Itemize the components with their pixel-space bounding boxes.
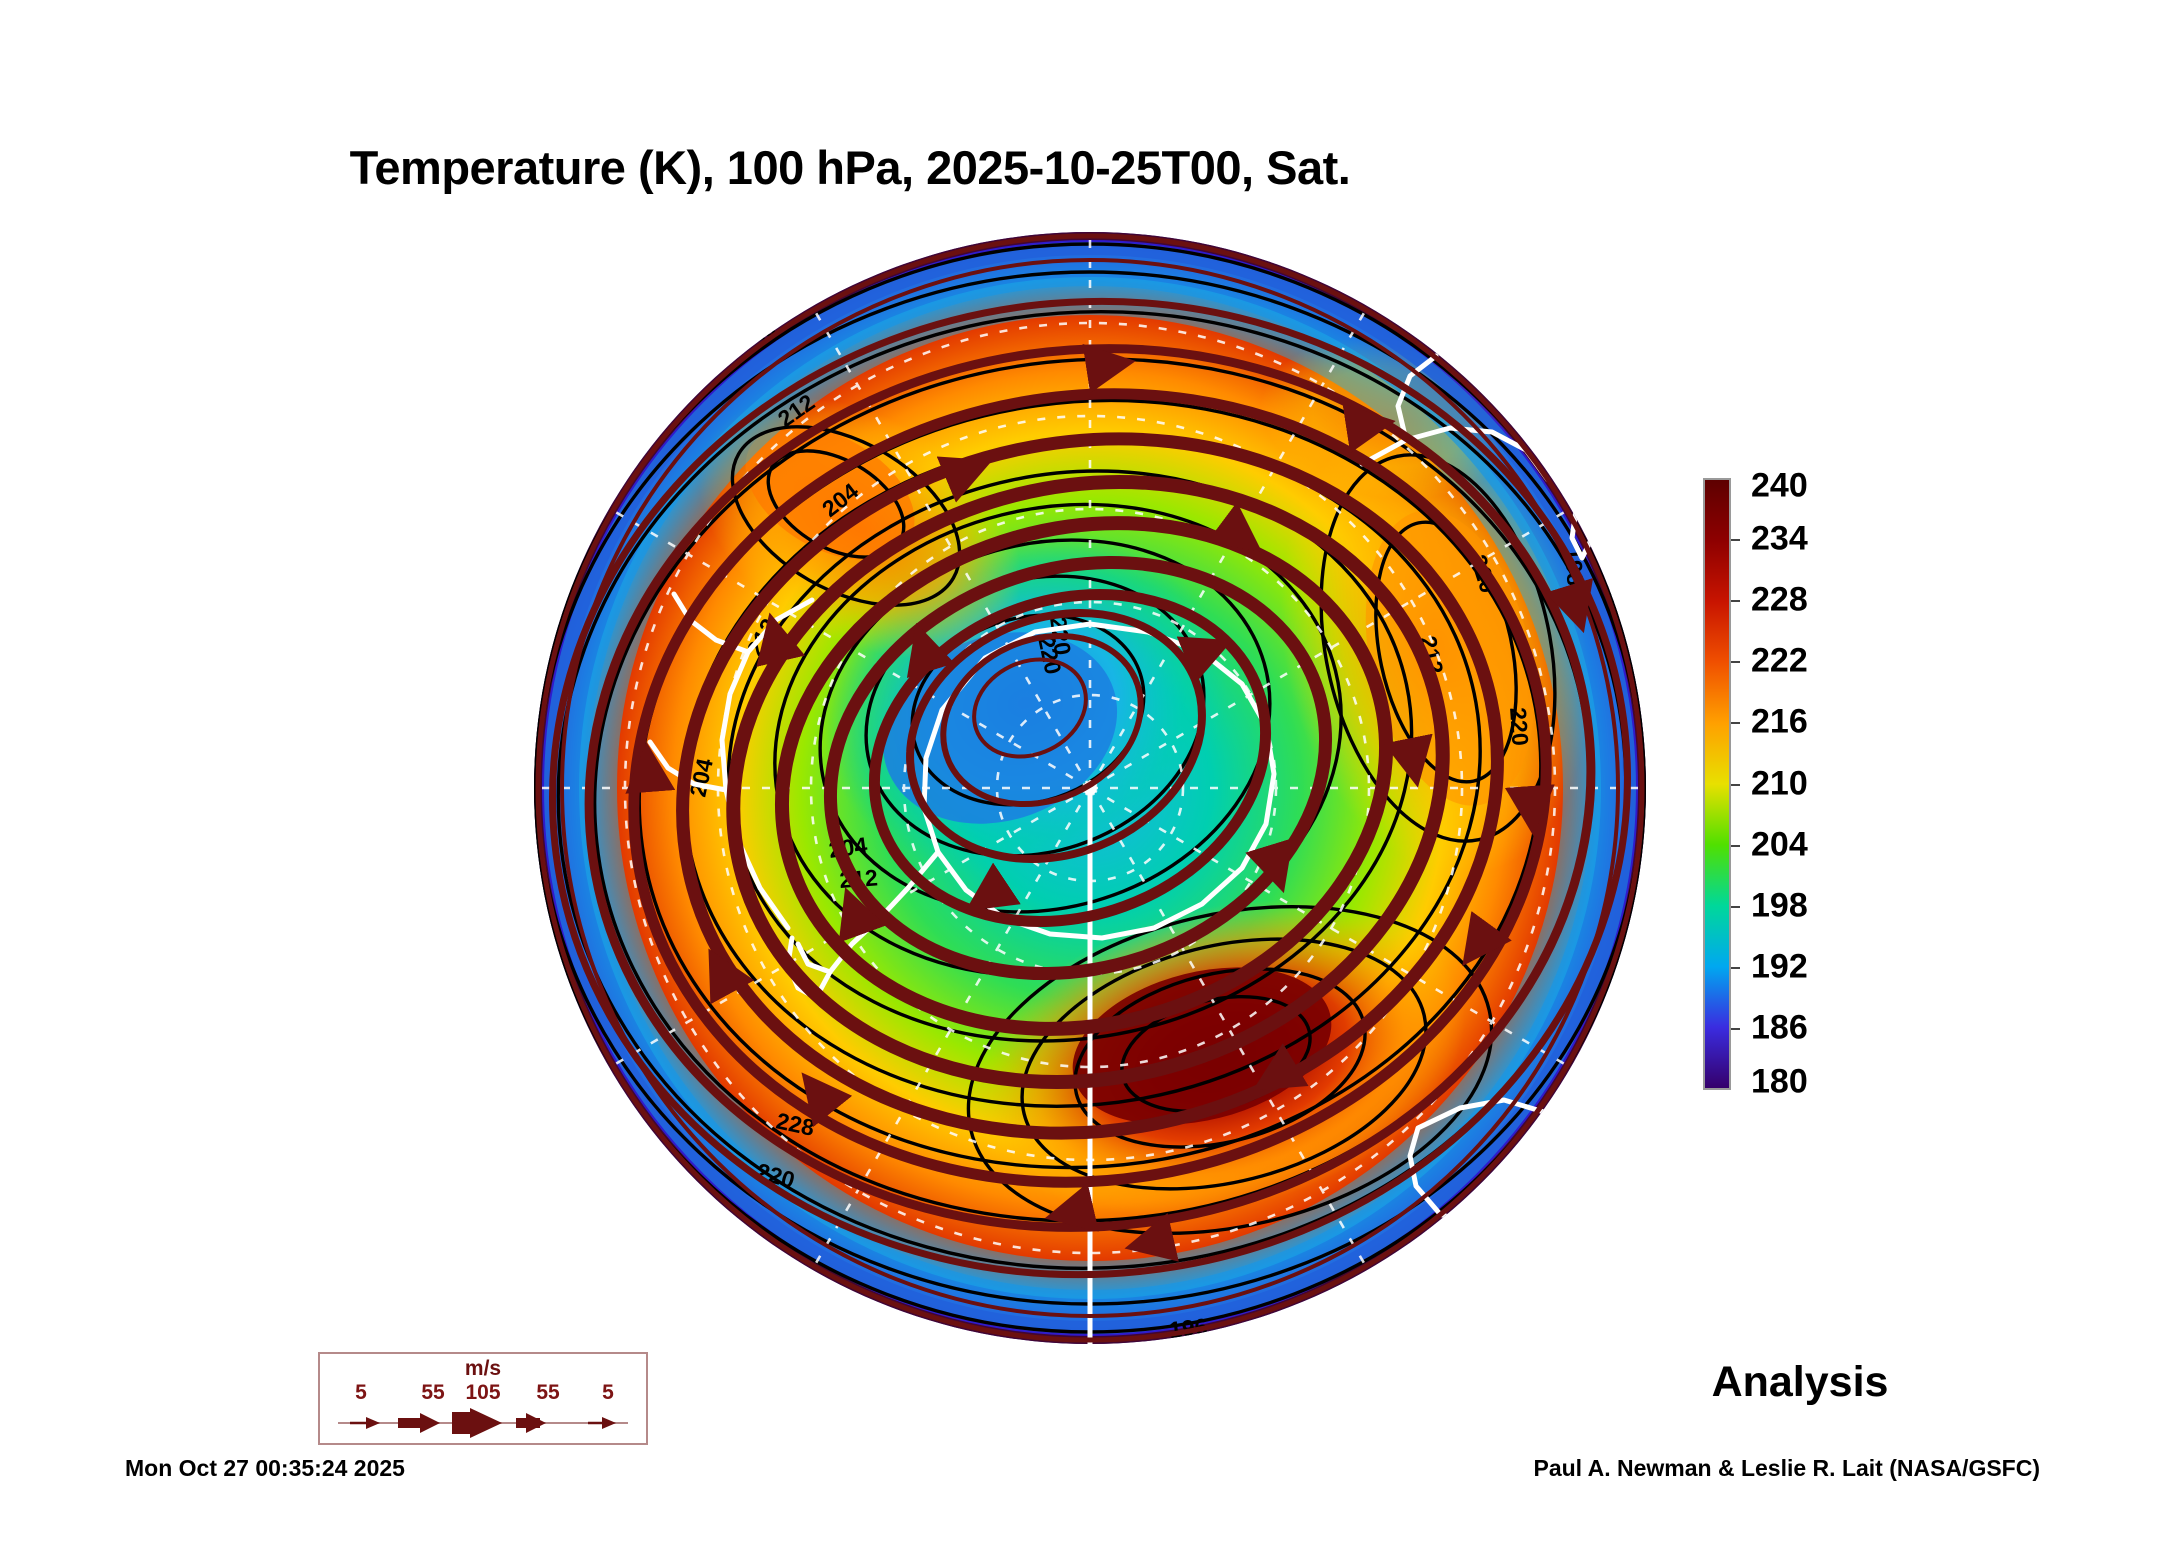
colorbar-label-234: 234 [1751,520,1808,559]
colorbar: 240 234 228 222 216 210 204 198 192 186 … [1703,478,1933,1090]
wind-legend-value-55b: 55 [536,1381,559,1405]
generation-timestamp: Mon Oct 27 00:35:24 2025 [125,1455,405,1482]
polar-temperature-map: 204 204 212 212 212 220 220 220 204 212 … [530,228,1650,1348]
analysis-label: Analysis [1655,1358,1945,1407]
wind-legend-value-105: 105 [465,1381,500,1405]
colorbar-label-222: 222 [1751,642,1808,681]
wind-legend-unit: m/s [320,1357,646,1381]
svg-text:204: 204 [688,1229,734,1269]
colorbar-label-216: 216 [1751,703,1808,742]
wind-legend-value-5b: 5 [602,1381,614,1405]
wind-legend-value-55a: 55 [421,1381,444,1405]
colorbar-label-198: 198 [1751,887,1808,926]
wind-legend-arrows [320,1406,646,1440]
colorbar-label-228: 228 [1751,581,1808,620]
colorbar-label-240: 240 [1751,467,1808,506]
wind-speed-legend: m/s 5 55 105 55 5 [318,1352,648,1445]
colorbar-label-180: 180 [1751,1063,1808,1102]
svg-text:220: 220 [1505,707,1534,747]
colorbar-label-204: 204 [1751,826,1808,865]
colorbar-label-186: 186 [1751,1009,1808,1048]
wind-legend-value-5a: 5 [355,1381,367,1405]
colorbar-label-192: 192 [1751,948,1808,987]
page-title: Temperature (K), 100 hPa, 2025-10-25T00,… [0,140,1700,195]
colorbar-gradient [1703,478,1731,1090]
svg-text:196: 196 [667,1331,713,1348]
colorbar-label-210: 210 [1751,765,1808,804]
author-credit: Paul A. Newman & Leslie R. Lait (NASA/GS… [1533,1455,2040,1482]
map-field: 204 204 212 212 212 220 220 220 204 212 … [530,228,1650,1348]
